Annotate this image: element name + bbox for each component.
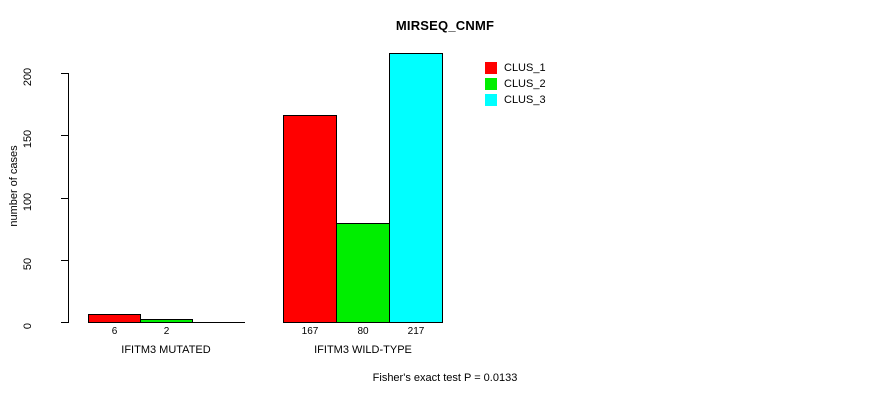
- group-label-mutated: IFITM3 MUTATED: [76, 344, 256, 356]
- y-tick-mark-150: [61, 135, 68, 136]
- chart-title: MIRSEQ_CNMF: [0, 18, 890, 33]
- y-tick-mark-0: [61, 322, 68, 323]
- y-axis-line: [68, 73, 69, 323]
- y-tick-label-50: 50: [0, 254, 57, 266]
- chart-figure: MIRSEQ_CNMF 200 150 100 50 0 number of c…: [0, 0, 890, 400]
- y-tick-label-100-text: 100: [22, 193, 34, 211]
- legend-label-clus1: CLUS_1: [504, 62, 546, 74]
- y-tick-label-50-text: 50: [23, 258, 35, 270]
- y-tick-mark-100: [61, 198, 68, 199]
- bar-value-mutated-clus1: 6: [88, 326, 141, 337]
- legend-swatch-clus1-icon: [485, 62, 497, 74]
- bar-wildtype-clus1: [283, 115, 337, 323]
- group-label-wildtype: IFITM3 WILD-TYPE: [273, 344, 453, 356]
- legend-item-clus2: CLUS_2: [485, 76, 546, 92]
- bar-wildtype-clus2: [336, 223, 390, 323]
- y-tick-label-150-text: 150: [22, 130, 34, 148]
- bar-wildtype-clus3: [389, 53, 443, 323]
- legend-swatch-clus2-icon: [485, 78, 497, 90]
- bar-mutated-clus3: [192, 322, 245, 323]
- y-tick-label-200: 200: [0, 67, 57, 79]
- bar-value-wildtype-clus2: 80: [336, 326, 390, 337]
- y-tick-mark-200: [61, 73, 68, 74]
- y-axis-title: number of cases: [8, 126, 20, 246]
- legend-label-clus2: CLUS_2: [504, 78, 546, 90]
- fisher-test-annotation: Fisher's exact test P = 0.0133: [0, 372, 890, 384]
- legend-item-clus3: CLUS_3: [485, 92, 546, 108]
- bar-value-wildtype-clus3: 217: [389, 326, 443, 337]
- legend-swatch-clus3-icon: [485, 94, 497, 106]
- bar-value-mutated-clus2: 2: [140, 326, 193, 337]
- y-tick-label-0: 0: [0, 316, 57, 328]
- bar-mutated-clus2: [140, 319, 193, 323]
- bar-mutated-clus1: [88, 314, 141, 323]
- y-tick-label-0-text: 0: [23, 323, 35, 329]
- y-tick-mark-50: [61, 260, 68, 261]
- y-tick-label-200-text: 200: [22, 68, 34, 86]
- bar-value-wildtype-clus1: 167: [283, 326, 337, 337]
- legend-item-clus1: CLUS_1: [485, 60, 546, 76]
- legend-label-clus3: CLUS_3: [504, 94, 546, 106]
- chart-legend: CLUS_1 CLUS_2 CLUS_3: [485, 60, 546, 108]
